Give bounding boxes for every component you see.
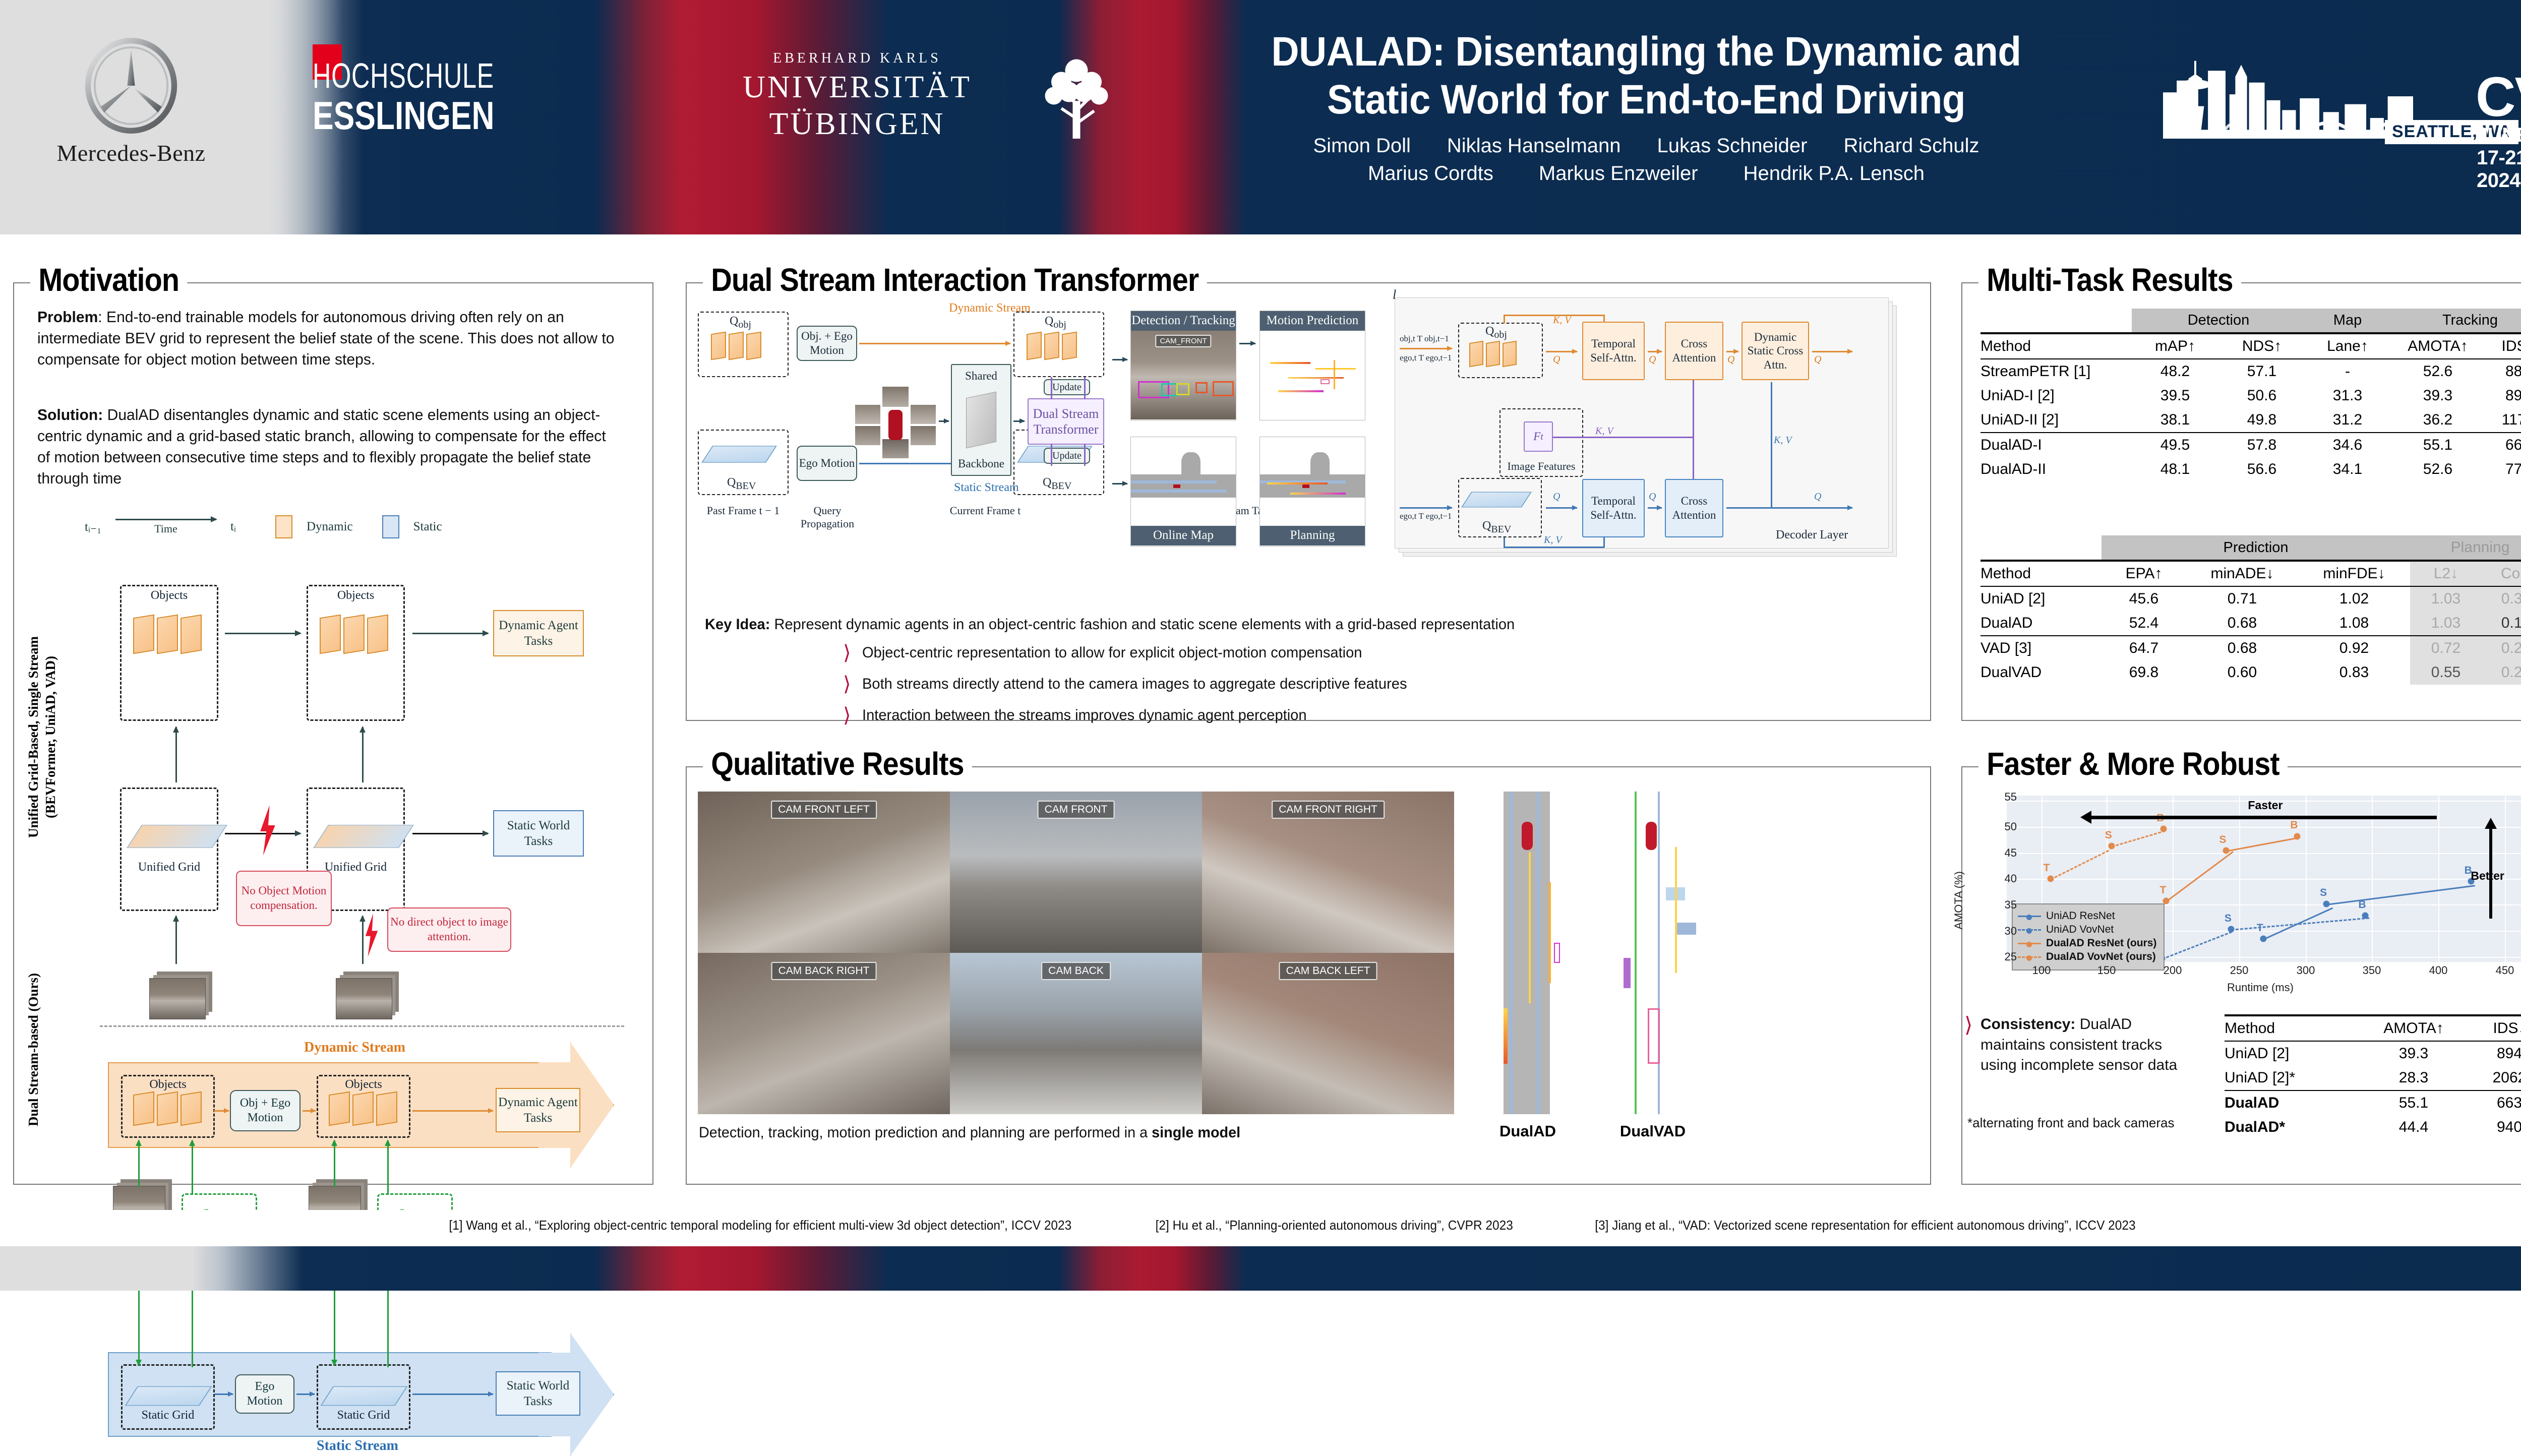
series-line-dualad-vovnet-2 [2112,830,2166,847]
motivation-solution: Solution: DualAD disentangles dynamic an… [37,404,615,490]
decoder-dyn-kv-feedback-right [1603,315,1605,322]
warning-bolt-1-icon [256,805,279,856]
chevron-right-icon: ⟩ [843,676,851,692]
table-row: DualAD-I 49.5 57.8 34.6 55.1 663 [1980,433,2521,457]
output-detection-image: CAM_FRONT [1131,331,1236,419]
arrow-grid-to-egomotion [215,1393,233,1395]
legend-item: DualAD ResNet (ours) [2018,937,2156,949]
dsit-update-link-bottom-1 [1051,444,1052,466]
table-row: VAD [3] 64.7 0.68 0.92 0.72 0.22 [1980,636,2521,660]
tuebingen-line0: EBERHARD KARLS [706,50,1008,67]
series-line-dualad-vovnet-1 [2051,850,2110,880]
reference-item: [1] Wang et al., “Exploring object-centr… [449,1218,1071,1233]
tuebingen-tree-icon [1039,53,1114,144]
cell-value: 774 [2486,457,2521,481]
arrow-image-to-grid-t0 [175,916,177,964]
section-title-dsit: Dual Stream Interaction Transformer [703,261,1207,298]
decoder-image-features-symbol: Ft [1524,421,1553,452]
cell-value: 52.4 [2102,611,2186,636]
panel-motivation: Motivation Problem: End-to-end trainable… [13,282,653,1185]
motivation-bottom-side-label: Dual Stream-based (Ours) [25,934,42,1166]
objects-label-dual-t0: Objects [121,1078,215,1091]
poster-header: Mercedes-Benz HOCHSCHULE ESSLINGEN EBERH… [0,0,2521,234]
motivation-legend: tᵢ₋₁ Time tᵢ Dynamic Static [85,515,442,538]
cell-planning-value: 0.22 [2482,660,2521,685]
arrow-grid-to-objects-t1 [362,727,364,782]
col-minfde: minFDE↓ [2298,561,2410,586]
cam-tag: CAM FRONT LEFT [771,801,877,819]
bullet-text: Interaction between the streams improves… [862,707,1307,724]
unified-grid-box-t0 [120,787,218,911]
cell-value: 0.83 [2298,660,2410,685]
dsit-qobj-cubes-past [711,333,761,359]
decoder-arrow-sta-out [1726,507,1852,509]
bullet-item: ⟩ Both streams directly attend to the ca… [843,676,1424,693]
cell-value: 36.2 [2390,408,2486,433]
cell-value: 0.60 [2186,660,2298,685]
group-header-blank [1980,309,2132,333]
ego-motion-box: Ego Motion [235,1374,294,1414]
table-row: UniAD [2]* 28.3 2062 [2225,1066,2521,1090]
point-label: S [2105,829,2112,841]
arrow-objects-to-dyn-tasks [412,1110,493,1112]
cell-value: 1.02 [2298,586,2410,611]
dsit-qobj-label-past: Qobj [730,315,751,331]
data-point [2362,913,2369,919]
consistency-note: Consistency: DualAD maintains consistent… [1980,1014,2197,1076]
decoder-arrow-sta-tsa-to-ca [1648,507,1662,509]
decoder-qobj-cubes [1469,342,1517,366]
legend-item: UniAD VovNet [2018,924,2156,936]
dsit-update-label-top: Update [1052,381,1082,393]
camera-view-back-left: CAM BACK LEFT [1202,953,1454,1114]
camera-image-stack-t0 [149,978,206,1019]
decoder-cross-kv-line [1771,382,1772,507]
cell-value: 894 [2472,1041,2521,1066]
decoder-q-label-4: Q [1814,354,1821,366]
uni-tuebingen-logo: EBERHARD KARLS UNIVERSITÄT TÜBINGEN [706,50,1008,142]
x-axis-tick: 200 [2164,964,2182,977]
cell-method: UniAD-II [2] [1980,408,2132,433]
motivation-solution-label: Solution: [37,406,103,423]
annotation-faster-arrow-icon [2090,816,2436,819]
cell-value: 663 [2472,1090,2521,1115]
cell-value: 56.6 [2218,457,2305,481]
panel-multi-task-results: Multi-Task Results Detection Map Trackin… [1961,282,2521,721]
data-point [2160,826,2167,832]
arrow-interaction-to-objects-2 [387,1140,389,1195]
chart-plot-area: T S B T S B T S B [2007,796,2521,962]
x-axis-tick: 400 [2429,964,2448,977]
y-axis-tick: 35 [1987,898,2017,912]
mercedes-star-icon [83,38,179,134]
time-arrow-icon: Time [115,519,216,535]
cell-value: - [2305,359,2390,384]
decoder-dyn-cross-attn: Cross Attention [1665,322,1723,380]
author: Simon Doll [1313,135,1411,157]
bullet-text: Object-centric representation to allow f… [862,644,1362,661]
point-label: S [2225,913,2232,925]
arrow-motion-to-objects [303,1110,316,1112]
chevron-right-icon: ⟩ [843,707,851,723]
static-grid-label-t0: Static Grid [121,1409,215,1422]
static-grid-3d-t0 [125,1386,212,1406]
cam-tag: CAM BACK LEFT [1279,962,1377,980]
consistency-footnote: *alternating front and back cameras [1967,1115,2174,1131]
dsit-backbone-label: Backbone [958,457,1004,471]
cell-method: DualAD* [2225,1115,2356,1139]
dsit-past-frame-label: Past Frame t − 1 [698,504,789,517]
col-ids: IDS↓ [2486,333,2521,359]
author: Markus Enzweiler [1539,162,1698,185]
dsit-qbev-label-past: QBEV [727,476,756,492]
hse-line2: ESSLINGEN [313,93,514,139]
decoder-input-obj-transform: obj,t T obj,t−1 [1400,334,1449,344]
decoder-cross-kv: K, V [1774,435,1792,446]
group-header-planning: Planning [2410,535,2521,561]
decoder-q-label-3: Q [1727,354,1734,366]
y-axis-tick: 55 [1987,791,2017,804]
point-label: B [2290,819,2298,831]
dsit-current-frame-label: Current Frame t [864,504,1106,517]
page-title: DUALAD: Disentangling the Dynamic and St… [1208,28,2084,124]
tuebingen-line1: UNIVERSITÄT [706,70,1008,105]
col-epa: EPA↑ [2102,561,2186,586]
bullet-text: Both streams directly attend to the came… [862,676,1407,693]
legend-item: DualAD VovNet (ours) [2018,951,2156,963]
dsit-qbev-grid-past [701,446,777,462]
col-amota: AMOTA↑ [2356,1015,2472,1041]
bev-view-dualvad [1599,792,1705,1114]
y-axis-tick: 45 [1987,846,2017,860]
table-row: DualAD 52.4 0.68 1.08 1.03 0.17 [1980,611,2521,636]
x-axis-tick: 300 [2297,964,2315,977]
cell-method: StreamPETR [1] [1980,359,2132,384]
table-row: UniAD-I [2] 39.5 50.6 31.3 39.3 894 [1980,384,2521,408]
annotation-better-arrow-icon [2489,828,2492,919]
chevron-right-icon: ⟩ [843,645,851,661]
decoder-sta-ca-label: Cross Attention [1666,494,1722,522]
decoder-sta-q-1: Q [1553,491,1560,503]
col-ids: IDS↓ [2472,1015,2521,1041]
hse-line1: HOCHSCHULE [313,55,494,96]
legend-swatch-line [2018,916,2041,917]
references: [1] Wang et al., “Exploring object-centr… [0,1207,2521,1243]
group-header-map: Map [2305,309,2390,333]
author-row-2: Marius Cordts Markus Enzweiler Hendrik P… [1175,162,2118,185]
cell-value: 31.3 [2305,384,2390,408]
cell-value: 45.6 [2102,586,2186,611]
y-axis-tick: 25 [1987,950,2017,963]
point-label: T [2044,862,2050,874]
legend-label: UniAD ResNet [2046,910,2115,922]
output-card-map: Online Map [1130,437,1236,547]
legend-label: DualAD VovNet (ours) [2046,951,2156,963]
cell-method: UniAD [2] [1980,586,2102,611]
point-label: T [2159,884,2166,896]
bullet-item: ⟩ Interaction between the streams improv… [843,707,1424,724]
data-point [2294,833,2301,839]
static-world-tasks-label-bottom: Static World Tasks [497,1378,579,1410]
decoder-image-features-label: Image Features [1499,460,1583,473]
camera-view-front-left: CAM FRONT LEFT [698,792,950,953]
cell-planning-value: 0.31 [2482,586,2521,611]
unified-grid-3d-t1 [313,825,414,848]
arrow-grid-to-tasks [412,833,488,834]
cell-value: 69.8 [2102,660,2186,685]
qualitative-caption-bold: single model [1152,1124,1240,1141]
cam-tag: CAM FRONT RIGHT [1272,801,1385,819]
multitask-table-1: Detection Map Tracking Method mAP↑ NDS↑ … [1980,309,2521,481]
dsit-update-link-top-2 [1084,377,1086,399]
dsit-shared-label: Shared [965,369,997,383]
cell-planning-value: 1.03 [2410,611,2482,636]
decoder-kv-label-image: K, V [1595,426,1613,437]
cell-value: 39.3 [2356,1041,2472,1066]
decoder-arrow-tsa-to-ca [1648,351,1662,352]
motivation-problem-text: : End-to-end trainable models for autono… [37,308,614,368]
col-col: Col↓ [2482,561,2521,586]
cell-method: DualAD [1980,611,2102,636]
group-header-prediction: Prediction [2102,535,2410,561]
object-cubes-dual-t1 [329,1093,397,1124]
dsit-obj-ego-motion-label: Obj. + Ego Motion [798,329,856,357]
dsit-arrow-backbone-to-transformer [1013,420,1025,422]
output-detection-title: Detection / Tracking [1131,311,1236,331]
decoder-sta-q-3: Q [1814,491,1821,503]
qualitative-caption: Detection, tracking, motion prediction a… [699,1124,1240,1141]
cell-value: 663 [2486,433,2521,457]
cell-value: 39.5 [2132,384,2218,408]
motivation-solution-text: DualAD disentangles dynamic and static s… [37,406,606,487]
decoder-arrow-in-static [1400,507,1452,509]
motivation-problem: Problem: End-to-end trainable models for… [37,307,615,370]
col-method: Method [1980,333,2132,359]
table-row: StreamPETR [1] 48.2 57.1 - 52.6 886 [1980,359,2521,384]
x-axis-tick: 350 [2363,964,2381,977]
dsit-query-propagation-label: Query Propagation [795,504,860,530]
chevron-right-icon: ⟩ [1964,1012,1972,1038]
unified-grid-3d-t0 [127,825,227,848]
cell-method: DualAD [2225,1090,2356,1115]
warning-text-2: No direct object to image attention. [388,915,510,944]
dsit-qobj-cubes-current [1027,333,1077,359]
series-line-dualad-resnet-2 [2226,837,2298,852]
section-title-motivation: Motivation [30,261,187,298]
static-world-tasks-box-top: Static World Tasks [493,810,584,857]
cvpr-wordmark: CVPR [2476,72,2521,123]
motivation-top-side-label: Unified Grid-Based, Single Stream (BEVFo… [25,596,59,878]
objects-label-dual-t1: Objects [317,1078,410,1091]
decoder-qobj-label: Qobj [1485,325,1507,341]
decoder-dyn-static-cross-attn: Dynamic Static Cross Attn. [1742,322,1809,380]
decoder-arrow-ca-to-dsca [1726,351,1738,352]
y-axis-tick: 50 [1987,820,2017,833]
data-point [2228,926,2235,932]
decoder-q-label-2: Q [1649,354,1656,366]
author: Marius Cordts [1368,162,1493,185]
series-line-uniad-resnet-2 [2326,885,2475,905]
decoder-sta-kv-left [1504,537,1505,548]
cell-planning-value: 0.55 [2410,660,2482,685]
cell-value: 50.6 [2218,384,2305,408]
cell-planning-value: 0.72 [2410,636,2482,660]
annotation-better-label: Better [2471,869,2504,883]
cam-tag: CAM FRONT [1038,801,1115,819]
panel-dual-stream-interaction-transformer: Dual Stream Interaction Transformer Dyna… [686,282,1931,721]
time-start-label: tᵢ₋₁ [85,519,101,534]
decoder-dyn-kv-feedback-line [1504,315,1604,316]
legend-item: UniAD ResNet [2018,910,2156,922]
legend-swatch-static [382,515,399,538]
col-map: mAP↑ [2132,333,2218,359]
decoder-image-kv-line [1553,437,1693,438]
panel-faster-more-robust: Faster & More Robust T S B [1961,766,2521,1185]
cell-value: 31.2 [2305,408,2390,433]
legend-swatch-dynamic [275,515,292,538]
bullet-item: ⟩ Object-centric representation to allow… [843,644,1424,661]
table-row: DualAD 55.1 663 [2225,1090,2521,1115]
cell-method: UniAD [2] [2225,1041,2356,1066]
y-axis-label: AMOTA (%) [1952,871,1965,930]
arrow-qbev-to-map [1112,483,1127,484]
cell-value: 940 [2472,1115,2521,1139]
page-title-line2: Static World for End-to-End Driving [1208,76,2084,124]
cell-value: 52.6 [2390,359,2486,384]
decoder-qbev-label: QBEV [1482,519,1511,535]
bev-view-dualad [1473,792,1579,1114]
col-nds: NDS↑ [2218,333,2305,359]
legend-label-static: Static [413,520,442,534]
warning-text-1: No Object Motion compensation. [237,884,331,913]
cell-value: 28.3 [2356,1066,2472,1090]
cell-method: UniAD-I [2] [1980,384,2132,408]
group-header-tracking: Tracking [2390,309,2521,333]
cell-planning-value: 0.22 [2482,636,2521,660]
cell-value: 64.7 [2102,636,2186,660]
data-point [2223,847,2229,854]
output-card-motion: Motion Prediction [1259,311,1365,420]
cell-value: 39.3 [2390,384,2486,408]
dsit-qbev-label-current: QBEV [1043,476,1071,492]
x-axis-label: Runtime (ms) [1975,981,2521,994]
series-line-uniad-vovnet-2 [2231,918,2369,931]
chart-legend: UniAD ResNet UniAD VovNet DualAD ResNet … [2012,903,2165,970]
dsit-obj-ego-motion-box: Obj. + Ego Motion [797,326,857,361]
object-cubes-t1 [320,616,388,652]
y-axis-tick: 40 [1987,872,2017,885]
output-planning-image [1260,437,1365,526]
time-label: Time [154,522,177,535]
decoder-layer-count-symbol: l [1393,287,1396,302]
decoder-sta-q-2: Q [1649,491,1656,503]
cell-planning-value: 1.03 [2410,586,2482,611]
author: Hendrik P.A. Lensch [1744,162,1925,185]
legend-label: DualAD ResNet (ours) [2046,937,2156,949]
camera-view-back-right: CAM BACK RIGHT [698,953,950,1114]
mercedes-benz-wordmark: Mercedes-Benz [55,140,207,166]
author: Lukas Schneider [1657,135,1808,157]
series-line-dualad-resnet-1 [2166,851,2234,902]
author: Richard Schulz [1843,135,1979,157]
section-title-multitask: Multi-Task Results [1978,261,2241,298]
cam-tag: CAM BACK RIGHT [771,962,877,980]
decoder-arrow-qobj-to-tsa [1546,351,1577,352]
dsit-update-link-top-1 [1051,377,1052,399]
table-group-header-row: Detection Map Tracking [1980,309,2521,333]
arrow-grid-t0-t1 [225,833,301,834]
decoder-dyn-kv-feedback-left [1504,315,1505,324]
cell-method: DualAD-I [1980,433,2132,457]
decoder-dyn-temporal-self-attn: Temporal Self-Attn. [1582,322,1645,380]
x-axis-tick: 150 [2097,964,2116,977]
key-idea-bullets: ⟩ Object-centric representation to allow… [843,644,1424,738]
warning-box-2: No direct object to image attention. [387,907,511,952]
arrow-objects-to-tasks [412,633,488,634]
decoder-arrow-qbev-to-tsa [1546,507,1577,509]
tuebingen-line2: TÜBINGEN [706,106,1008,142]
object-cubes-t0 [133,616,202,652]
cell-value: 48.1 [2132,457,2218,481]
dynamic-agent-tasks-box-top: Dynamic Agent Tasks [493,610,584,656]
output-planning-title: Planning [1260,526,1365,545]
dynamic-agent-tasks-label-bottom: Dynamic Agent Tasks [497,1095,579,1126]
dsit-update-link-bottom-2 [1084,444,1086,466]
motivation-problem-label: Problem [37,308,98,326]
cell-value: 0.68 [2186,636,2298,660]
arrow-grid-to-objects-t0 [175,727,177,782]
cell-value: 886 [2486,359,2521,384]
decoder-sta-kv: K, V [1544,534,1562,546]
qualitative-caption-pre: Detection, tracking, motion prediction a… [699,1124,1152,1141]
dynamic-agent-tasks-box-bottom: Dynamic Agent Tasks [496,1088,580,1132]
arrow-interaction-to-objects-1 [192,1140,193,1195]
table-group-header-row: Prediction Planning [1980,535,2521,561]
warning-box-1: No Object Motion compensation. [236,871,332,926]
col-minade: minADE↓ [2186,561,2298,586]
table-row: UniAD [2] 45.6 0.71 1.02 1.03 0.31 [1980,586,2521,611]
motivation-divider [100,1025,624,1027]
obj-ego-motion-label: Obj + Ego Motion [231,1096,299,1125]
dsit-update-label-bottom: Update [1052,450,1082,462]
decoder-arrow-in-dynamic [1400,348,1452,349]
cell-value: 0.92 [2298,636,2410,660]
cvpr-logo: SEATTLE, WA CVPR JUNE 17-21, 2024 [2163,30,2521,146]
cell-value: 55.1 [2390,433,2486,457]
section-title-faster: Faster & More Robust [1978,745,2288,782]
cell-planning-value: 0.17 [2482,611,2521,636]
author-row-1: Simon Doll Niklas Hanselmann Lukas Schne… [1175,135,2118,157]
author: Niklas Hanselmann [1447,135,1621,157]
arrow-objects-to-motion [214,1110,229,1112]
legend-label-dynamic: Dynamic [307,520,353,534]
decoder-arrow-dsca-out [1812,351,1852,352]
col-method: Method [2225,1015,2356,1041]
cell-value: 894 [2486,384,2521,408]
decoder-layer-label: Decoder Layer [1776,528,1848,542]
table-header-row: Method AMOTA↑ IDS↓ [2225,1015,2521,1041]
point-label: S [2320,887,2327,899]
cvpr-date: JUNE 17-21, 2024 [2477,124,2521,192]
table-header-row: Method EPA↑ minADE↓ minFDE↓ L2↓ Col↓ [1980,561,2521,586]
cam-front-tag: CAM_FRONT [1155,335,1211,347]
dsit-shared-backbone-box: Shared Backbone [951,364,1011,476]
mercedes-benz-logo: Mercedes-Benz [55,38,207,166]
dsit-ego-motion-box: Ego Motion [797,446,857,481]
decoder-kv-label-dyn: K, V [1553,315,1571,326]
decoder-sta-tsa-label: Temporal Self-Attn. [1583,494,1644,522]
camera-image-stack-t1 [336,978,392,1019]
